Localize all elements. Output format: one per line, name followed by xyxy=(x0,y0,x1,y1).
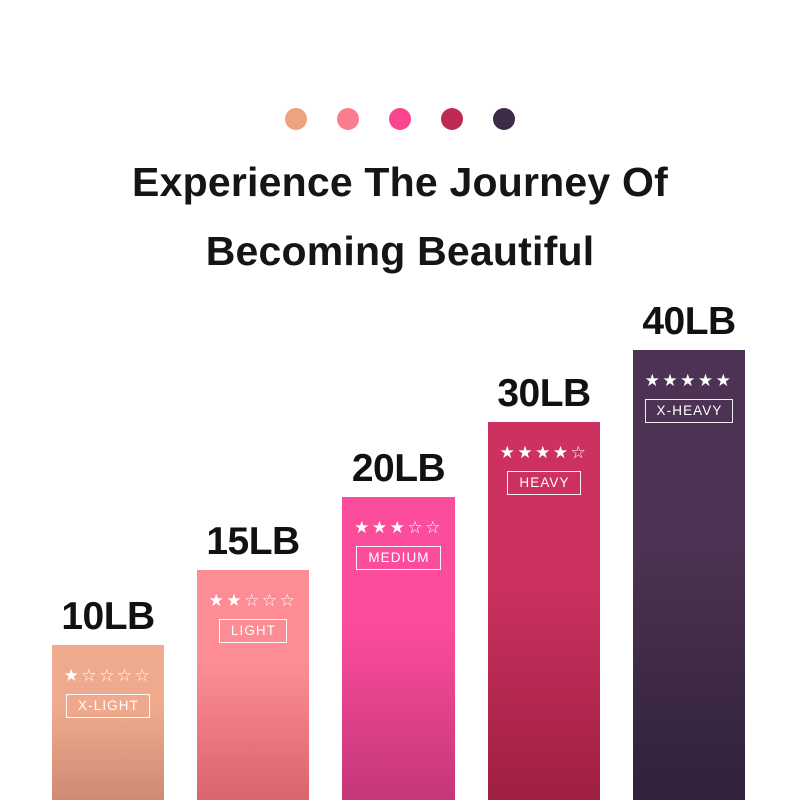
bar-group-40lb[interactable]: 40LB★★★★★X-HEAVY xyxy=(633,350,745,800)
infographic-canvas: Experience The Journey Of Becoming Beaut… xyxy=(0,0,800,800)
bar-column: ★★★★☆HEAVY xyxy=(488,422,600,800)
resistance-level-badge: HEAVY xyxy=(507,471,580,495)
resistance-band-bar-chart: 10LB★☆☆☆☆X-LIGHT15LB★★☆☆☆LIGHT20LB★★★☆☆M… xyxy=(0,0,800,800)
bar-weight-label: 10LB xyxy=(61,595,154,639)
resistance-level-badge: X-HEAVY xyxy=(645,399,734,423)
bar-column: ★★★★★X-HEAVY xyxy=(633,350,745,800)
bar-group-10lb[interactable]: 10LB★☆☆☆☆X-LIGHT xyxy=(52,645,164,800)
bar-weight-label: 40LB xyxy=(642,300,735,344)
bar-group-20lb[interactable]: 20LB★★★☆☆MEDIUM xyxy=(342,497,455,800)
bar-column: ★★☆☆☆LIGHT xyxy=(197,570,309,800)
bar-group-15lb[interactable]: 15LB★★☆☆☆LIGHT xyxy=(197,570,309,800)
star-rating-icon: ★★★★☆ xyxy=(500,444,589,461)
bar-weight-label: 30LB xyxy=(497,372,590,416)
resistance-level-badge: LIGHT xyxy=(219,619,287,643)
star-rating-icon: ★☆☆☆☆ xyxy=(64,667,153,684)
bar-group-30lb[interactable]: 30LB★★★★☆HEAVY xyxy=(488,422,600,800)
bar-column: ★★★☆☆MEDIUM xyxy=(342,497,455,800)
bar-column: ★☆☆☆☆X-LIGHT xyxy=(52,645,164,800)
star-rating-icon: ★★★☆☆ xyxy=(354,519,443,536)
bar-weight-label: 15LB xyxy=(206,520,299,564)
resistance-level-badge: X-LIGHT xyxy=(66,694,150,718)
star-rating-icon: ★★☆☆☆ xyxy=(209,592,298,609)
star-rating-icon: ★★★★★ xyxy=(645,372,734,389)
resistance-level-badge: MEDIUM xyxy=(356,546,440,570)
bar-weight-label: 20LB xyxy=(352,447,445,491)
